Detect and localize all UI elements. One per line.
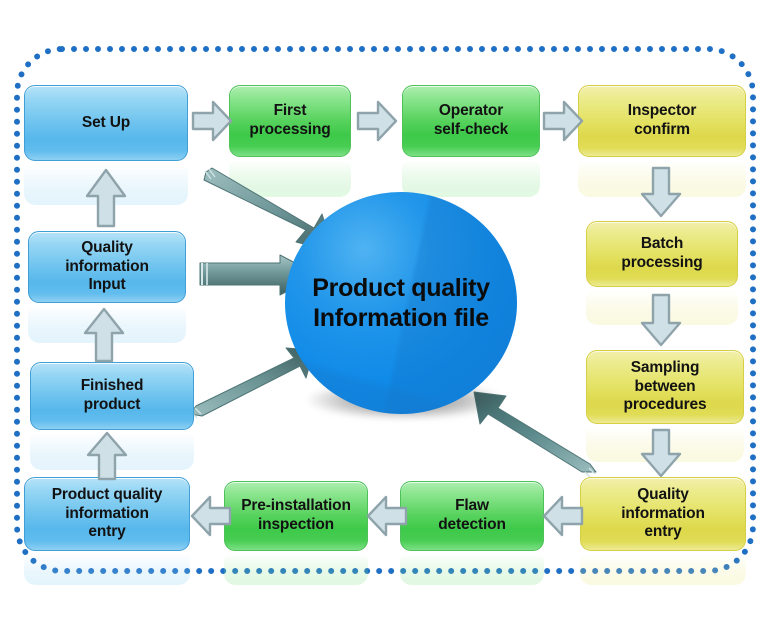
flow-arrow-pre-installation-inspection-to-product-quality-entry bbox=[188, 494, 232, 538]
center-node-line-1: Product quality bbox=[312, 274, 489, 302]
node-batch-processing[interactable]: Batchprocessing bbox=[586, 221, 738, 287]
node-finished-product-label: Finishedproduct bbox=[37, 377, 187, 415]
node-quality-information-entry-label: Qualityinformationentry bbox=[587, 486, 739, 543]
node-set-up-label: Set Up bbox=[31, 114, 181, 133]
node-set-up[interactable]: Set Up bbox=[24, 85, 188, 161]
flow-arrow-inspector-confirm-to-batch-processing bbox=[639, 166, 683, 218]
flow-arrow-batch-processing-to-sampling bbox=[639, 293, 683, 347]
node-first-processing-label: Firstprocessing bbox=[236, 102, 344, 140]
node-sampling-between-procedures[interactable]: Samplingbetweenprocedures bbox=[586, 350, 744, 424]
node-product-quality-information-entry-label: Product qualityinformationentry bbox=[31, 486, 183, 543]
node-first-processing[interactable]: Firstprocessing bbox=[229, 85, 351, 157]
node-quality-information-entry[interactable]: Qualityinformationentry bbox=[580, 477, 746, 551]
diagram-canvas: Product quality Information file Set Up … bbox=[0, 0, 771, 637]
flow-arrow-flaw-detection-to-pre-installation-inspection bbox=[364, 494, 408, 538]
flow-arrow-first-processing-to-operator-self-check bbox=[356, 99, 398, 143]
center-node-sphere: Product quality Information file bbox=[285, 192, 517, 420]
flow-arrow-product-quality-entry-to-finished-product bbox=[85, 431, 129, 481]
flow-arrow-operator-self-check-to-inspector-confirm bbox=[542, 99, 584, 143]
node-operator-self-check[interactable]: Operatorself-check bbox=[402, 85, 540, 157]
node-product-quality-information-entry[interactable]: Product qualityinformationentry bbox=[24, 477, 190, 551]
node-operator-self-check-label: Operatorself-check bbox=[409, 102, 533, 140]
node-pre-installation-inspection-label: Pre-installationinspection bbox=[231, 497, 361, 535]
node-pre-installation-inspection[interactable]: Pre-installationinspection bbox=[224, 481, 368, 551]
node-finished-product[interactable]: Finishedproduct bbox=[30, 362, 194, 430]
node-inspector-confirm-label: Inspectorconfirm bbox=[585, 102, 739, 140]
node-batch-processing-label: Batchprocessing bbox=[593, 235, 731, 273]
flow-arrow-set-up-to-first-processing bbox=[191, 99, 233, 143]
flow-arrow-quality-information-entry-to-flaw-detection bbox=[540, 494, 584, 538]
node-quality-information-input[interactable]: QualityinformationInput bbox=[28, 231, 186, 303]
node-inspector-confirm[interactable]: Inspectorconfirm bbox=[578, 85, 746, 157]
node-flaw-detection[interactable]: Flawdetection bbox=[400, 481, 544, 551]
node-flaw-detection-label: Flawdetection bbox=[407, 497, 537, 535]
node-sampling-between-procedures-label: Samplingbetweenprocedures bbox=[593, 359, 737, 416]
center-node-label: Product quality Information file bbox=[285, 192, 517, 414]
flow-arrow-finished-product-to-quality-information-input bbox=[82, 307, 126, 363]
flow-arrow-quality-information-input-to-set-up bbox=[84, 168, 128, 228]
node-quality-information-input-label: QualityinformationInput bbox=[35, 239, 179, 296]
flow-arrow-sampling-to-quality-information-entry bbox=[639, 428, 683, 478]
center-node-line-2: Information file bbox=[313, 304, 489, 332]
